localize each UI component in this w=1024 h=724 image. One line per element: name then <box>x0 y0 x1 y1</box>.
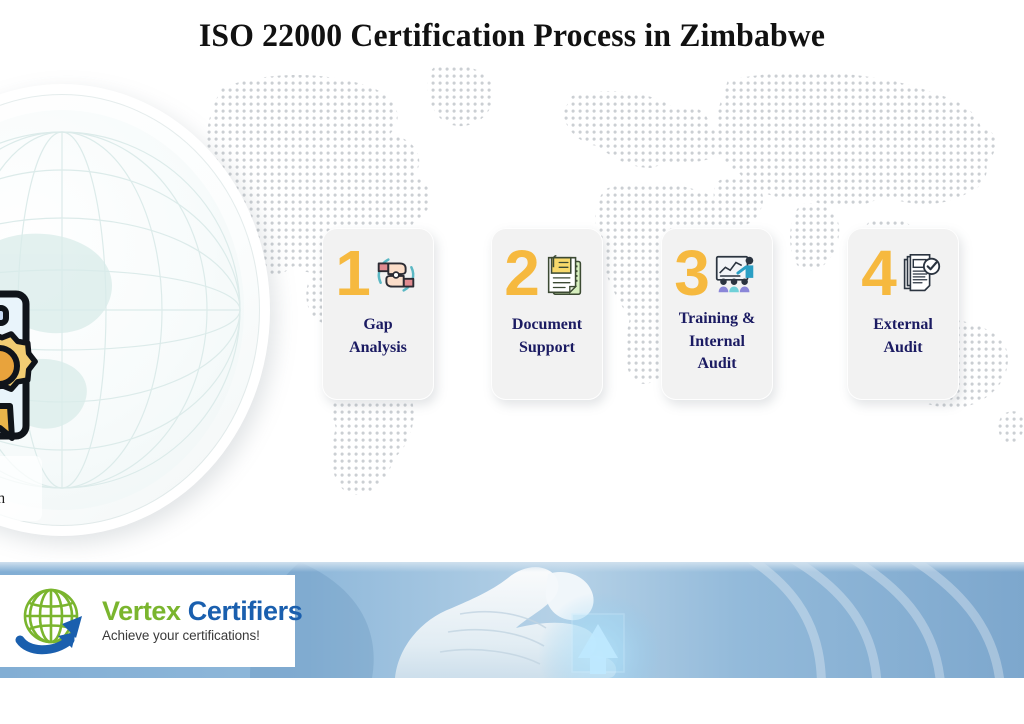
process-steps-row: 1 <box>0 0 1024 530</box>
step-card-header: 4 <box>847 238 959 312</box>
step-card-gap-analysis[interactable]: 1 <box>322 228 434 400</box>
logo-brand-vertex: Vertex <box>102 596 181 626</box>
step-label: Gap Analysis <box>322 314 434 359</box>
green-globe-with-blue-arrow-icon <box>14 586 92 656</box>
step-label: Document Support <box>491 314 603 359</box>
step-label: Training & Internal Audit <box>661 308 773 376</box>
step-card-header: 1 <box>322 238 434 312</box>
logo-wordmark: Vertex Certifiers Achieve your certifica… <box>102 597 302 642</box>
step-label: External Audit <box>847 314 959 359</box>
training-presentation-icon <box>710 250 760 300</box>
step-number: 1 <box>335 241 369 305</box>
step-card-external-audit[interactable]: 4 <box>847 228 959 400</box>
handshake-partnership-icon <box>371 250 421 300</box>
step-card-header: 3 <box>661 238 773 312</box>
step-number: 4 <box>861 241 895 305</box>
step-card-document-support[interactable]: 2 <box>491 228 603 400</box>
step-card-training-internal-audit[interactable]: 3 <box>661 228 773 400</box>
step-card-header: 2 <box>491 238 603 312</box>
banner-top-fade <box>0 562 1024 572</box>
step-number: 3 <box>674 241 708 305</box>
step-number: 2 <box>504 241 538 305</box>
logo-tagline: Achieve your certifications! <box>102 628 302 643</box>
bottom-white-strip <box>0 678 1024 724</box>
logo-brand-line: Vertex Certifiers <box>102 597 302 625</box>
documents-paperclip-icon <box>540 250 590 300</box>
vertex-certifiers-logo[interactable]: Vertex Certifiers Achieve your certifica… <box>0 575 295 667</box>
infographic-canvas: ISO 22000 Certification Process in Zimba… <box>0 0 1024 724</box>
documents-checkmark-icon <box>895 250 945 300</box>
logo-brand-certifiers: Certifiers <box>188 596 303 626</box>
